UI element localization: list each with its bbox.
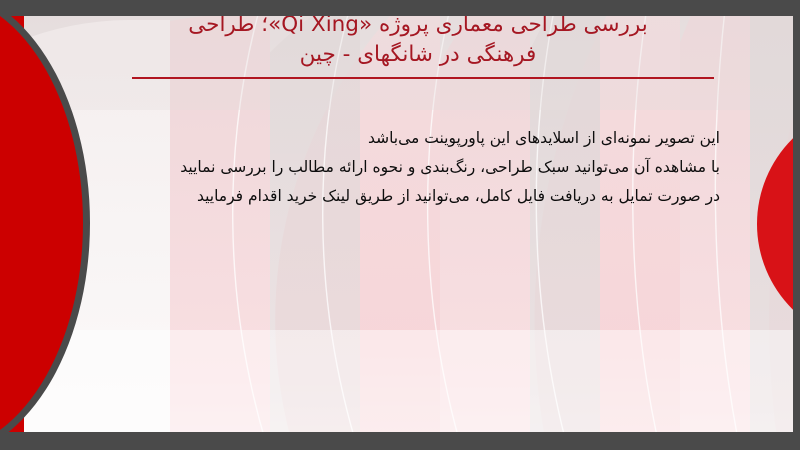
body-line-2: با مشاهده آن می‌توانید سبک طراحی، رنگ‌بن… [120,153,720,182]
slide-frame-bottom [0,432,800,450]
title-underline-rule [132,77,714,79]
presentation-slide: بررسی طراحی معماری پروژه «Qi Xing»؛ طراح… [0,0,800,450]
slide-title: بررسی طراحی معماری پروژه «Qi Xing»؛ طراح… [118,10,718,70]
body-line-3: در صورت تمایل به دریافت فایل کامل، می‌تو… [120,182,720,211]
slide-frame-top [0,0,800,16]
slide-title-line-2: فرهنگی در شانگهای - چین [118,40,718,70]
body-line-1: این تصویر نمونه‌ای از اسلایدهای این پاور… [120,124,720,153]
slide-frame-right [793,0,800,450]
slide-body-text: این تصویر نمونه‌ای از اسلایدهای این پاور… [120,124,720,211]
slide-canvas: بررسی طراحی معماری پروژه «Qi Xing»؛ طراح… [0,0,793,450]
